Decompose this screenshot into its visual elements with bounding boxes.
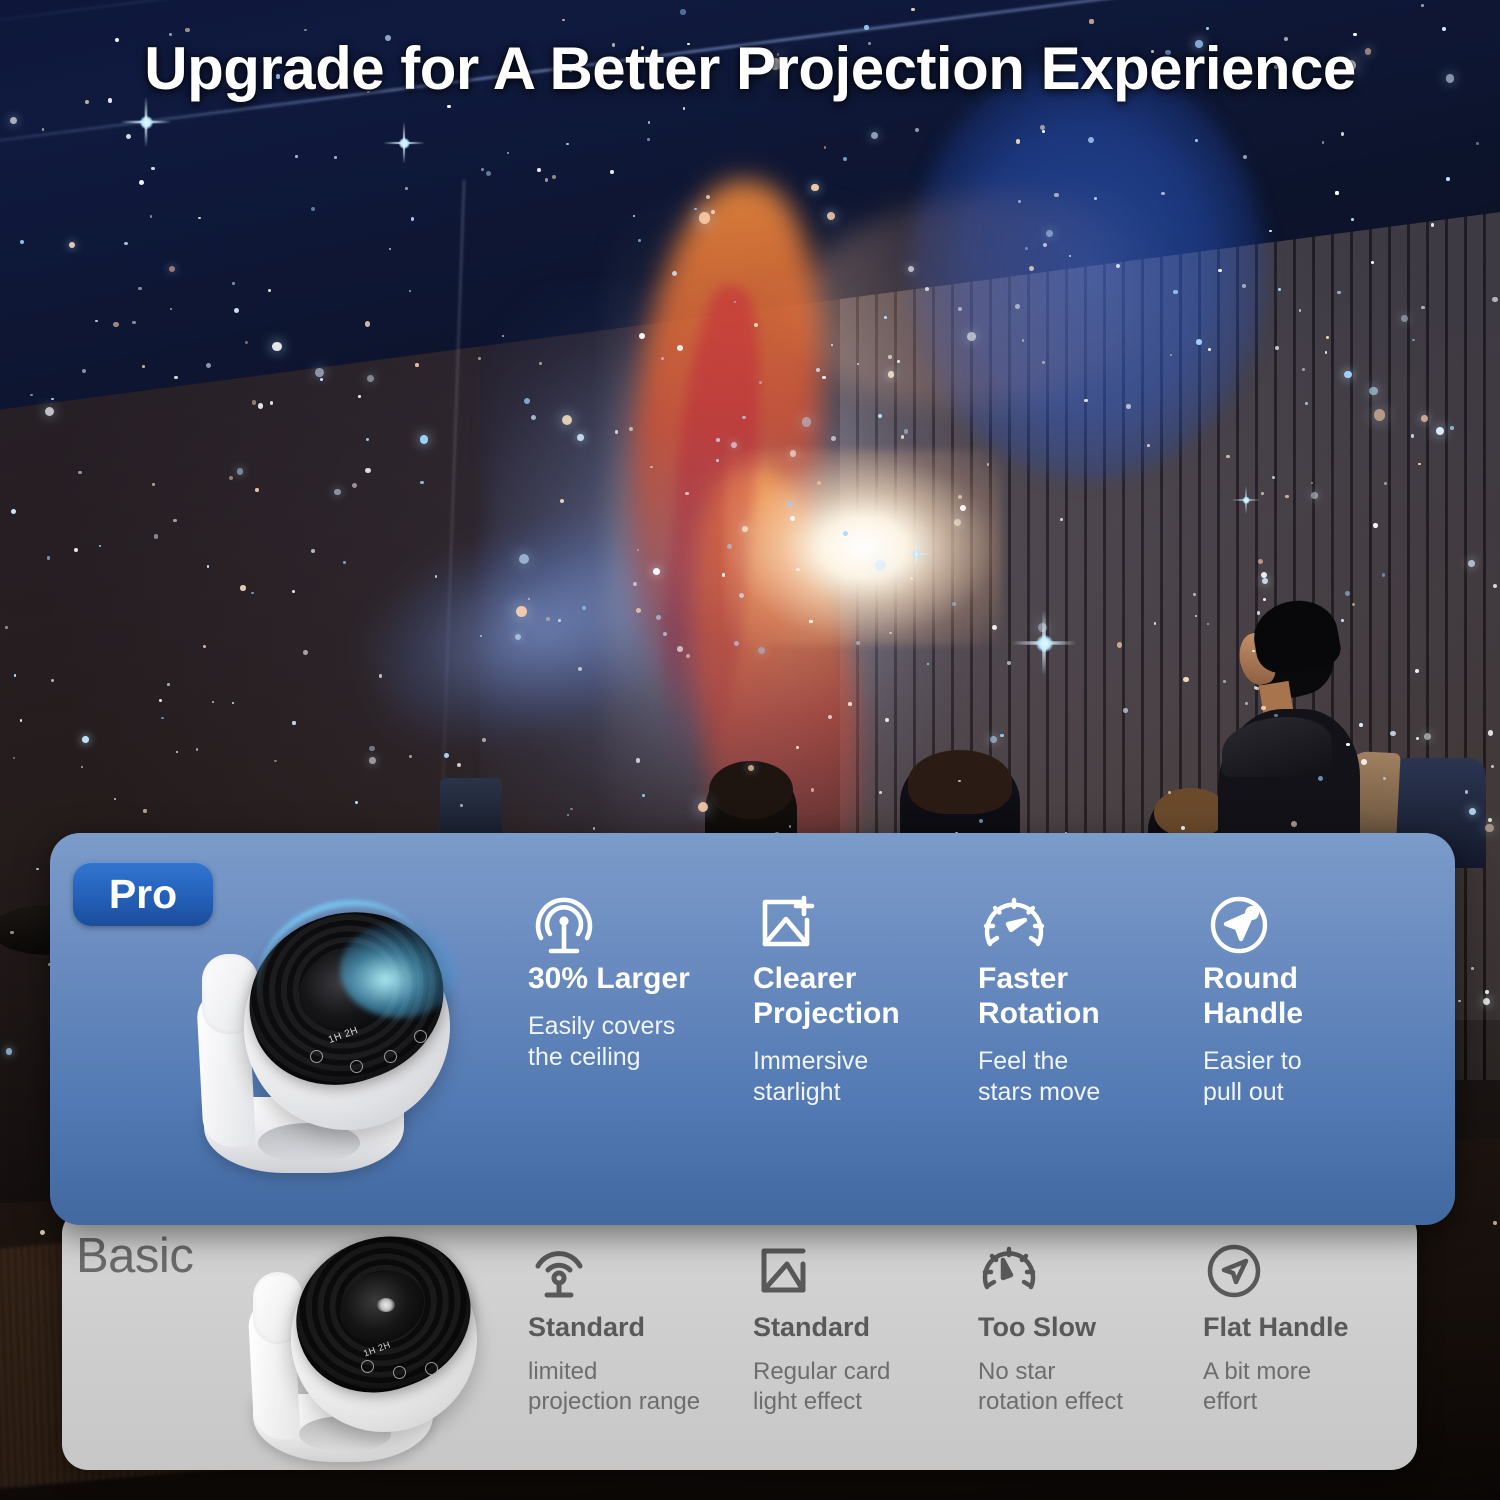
basic-feature-title: Flat Handle — [1203, 1312, 1428, 1343]
image-icon — [753, 1242, 978, 1312]
send-circle-flat-icon — [1203, 1242, 1428, 1312]
basic-feature-2: Too Slow No starrotation effect — [978, 1242, 1203, 1417]
shoulder — [1222, 717, 1332, 777]
pro-feature-2: FasterRotation Feel thestars move — [978, 892, 1203, 1108]
pro-power-button[interactable] — [310, 1050, 323, 1063]
speedometer-icon — [978, 892, 1203, 962]
pro-feature-1: ClearerProjection Immersivestarlight — [753, 892, 978, 1108]
pro-feature-title: FasterRotation — [978, 962, 1203, 1032]
send-circle-icon — [1203, 892, 1428, 962]
basic-feature-3: Flat Handle A bit moreeffort — [1203, 1242, 1428, 1417]
image-plus-icon — [753, 892, 978, 962]
basic-label: Basic — [76, 1228, 193, 1284]
pro-feature-subtitle: Easier topull out — [1203, 1046, 1428, 1108]
broadcast-signal-simple-icon — [528, 1242, 753, 1312]
pro-brightness-button[interactable] — [414, 1030, 427, 1043]
basic-feature-subtitle: Regular cardlight effect — [753, 1357, 978, 1417]
nebula-projection — [540, 150, 1200, 900]
device-lens-highlight — [377, 1298, 395, 1312]
pro-feature-title: ClearerProjection — [753, 962, 978, 1032]
viewer-silhouette-man — [1212, 605, 1362, 835]
basic-feature-subtitle: limitedprojection range — [528, 1357, 753, 1417]
basic-feature-subtitle: No starrotation effect — [978, 1357, 1203, 1417]
pro-feature-0: 30% Larger Easily coversthe ceiling — [528, 892, 753, 1108]
basic-feature-title: Standard — [528, 1312, 753, 1343]
pro-feature-subtitle: Easily coversthe ceiling — [528, 1011, 753, 1073]
pro-star-projector: 1H 2H — [182, 908, 482, 1173]
nebula-bright-core — [725, 450, 1002, 645]
basic-feature-title: Standard — [753, 1312, 978, 1343]
pro-feature-3: RoundHandle Easier topull out — [1203, 892, 1428, 1108]
basic-feature-list: Standard limitedprojection range Standar… — [528, 1242, 1428, 1417]
pro-badge-label: Pro — [109, 871, 177, 918]
broadcast-signal-icon — [528, 892, 753, 962]
product-feature-image: Upgrade for A Better Projection Experien… — [0, 0, 1500, 1500]
basic-power-button[interactable] — [425, 1362, 438, 1375]
hair — [908, 750, 1012, 814]
page-title: Upgrade for A Better Projection Experien… — [0, 34, 1500, 103]
basic-feature-1: Standard Regular cardlight effect — [753, 1242, 978, 1417]
pro-feature-list: 30% Larger Easily coversthe ceiling Clea… — [528, 892, 1428, 1108]
basic-feature-0: Standard limitedprojection range — [528, 1242, 753, 1417]
basic-mode-button[interactable] — [393, 1366, 406, 1379]
basic-feature-title: Too Slow — [978, 1312, 1203, 1343]
pro-feature-subtitle: Feel thestars move — [978, 1046, 1203, 1108]
pro-mode-button[interactable] — [384, 1050, 397, 1063]
basic-timer-button[interactable] — [361, 1360, 374, 1373]
basic-feature-subtitle: A bit moreeffort — [1203, 1357, 1428, 1417]
pro-feature-title: RoundHandle — [1203, 962, 1428, 1032]
pro-feature-subtitle: Immersivestarlight — [753, 1046, 978, 1108]
hair — [709, 761, 793, 819]
pro-timer-button[interactable] — [350, 1060, 363, 1073]
pro-feature-title: 30% Larger — [528, 962, 753, 997]
speedometer-slow-icon — [978, 1242, 1203, 1312]
basic-star-projector: 1H 2H — [235, 1232, 505, 1462]
lens-light-burst — [340, 922, 460, 1018]
